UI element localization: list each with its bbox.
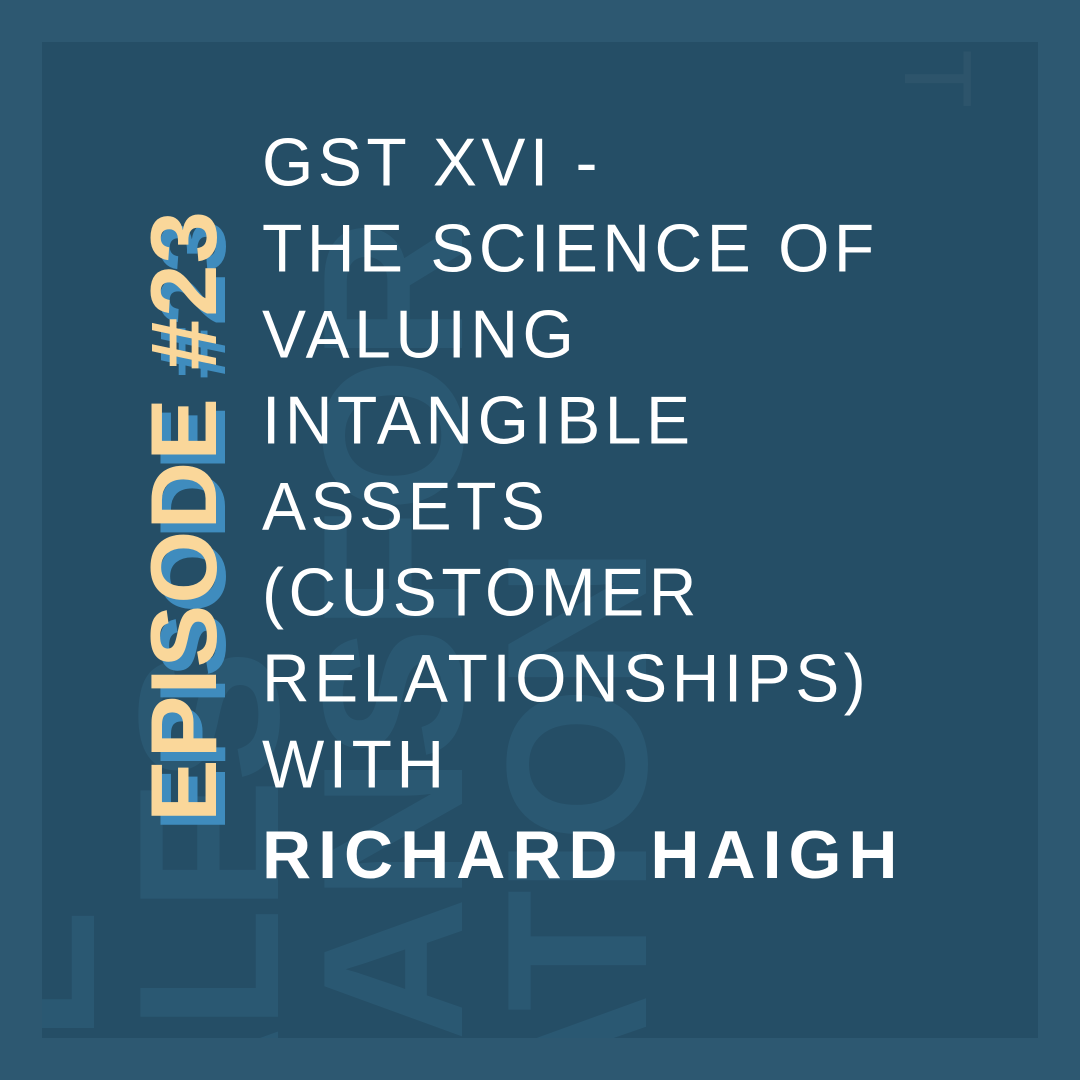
title-line-5: ASSETS: [262, 462, 1022, 550]
episode-label: EPISODE #23: [130, 210, 238, 822]
title-line-1: GST XVI -: [262, 118, 1022, 206]
title-line-7: RELATIONSHIPS): [262, 634, 1022, 722]
inner-panel: THE SALES TRANSFOR MATION PODCAST EPISOD…: [42, 42, 1038, 1038]
title-line-3: VALUING: [262, 290, 1022, 378]
title-line-2: THE SCIENCE OF: [262, 204, 1022, 292]
title-block: GST XVI - THE SCIENCE OF VALUING INTANGI…: [262, 118, 1022, 898]
title-line-8: WITH: [262, 720, 1022, 808]
podcast-cover-art: THE SALES TRANSFOR MATION PODCAST EPISOD…: [0, 0, 1080, 1080]
guest-name: RICHARD HAIGH: [262, 812, 1022, 898]
episode-badge: EPISODE #23: [42, 42, 262, 1038]
title-line-6: (CUSTOMER: [262, 548, 1022, 636]
title-line-4: INTANGIBLE: [262, 376, 1022, 464]
